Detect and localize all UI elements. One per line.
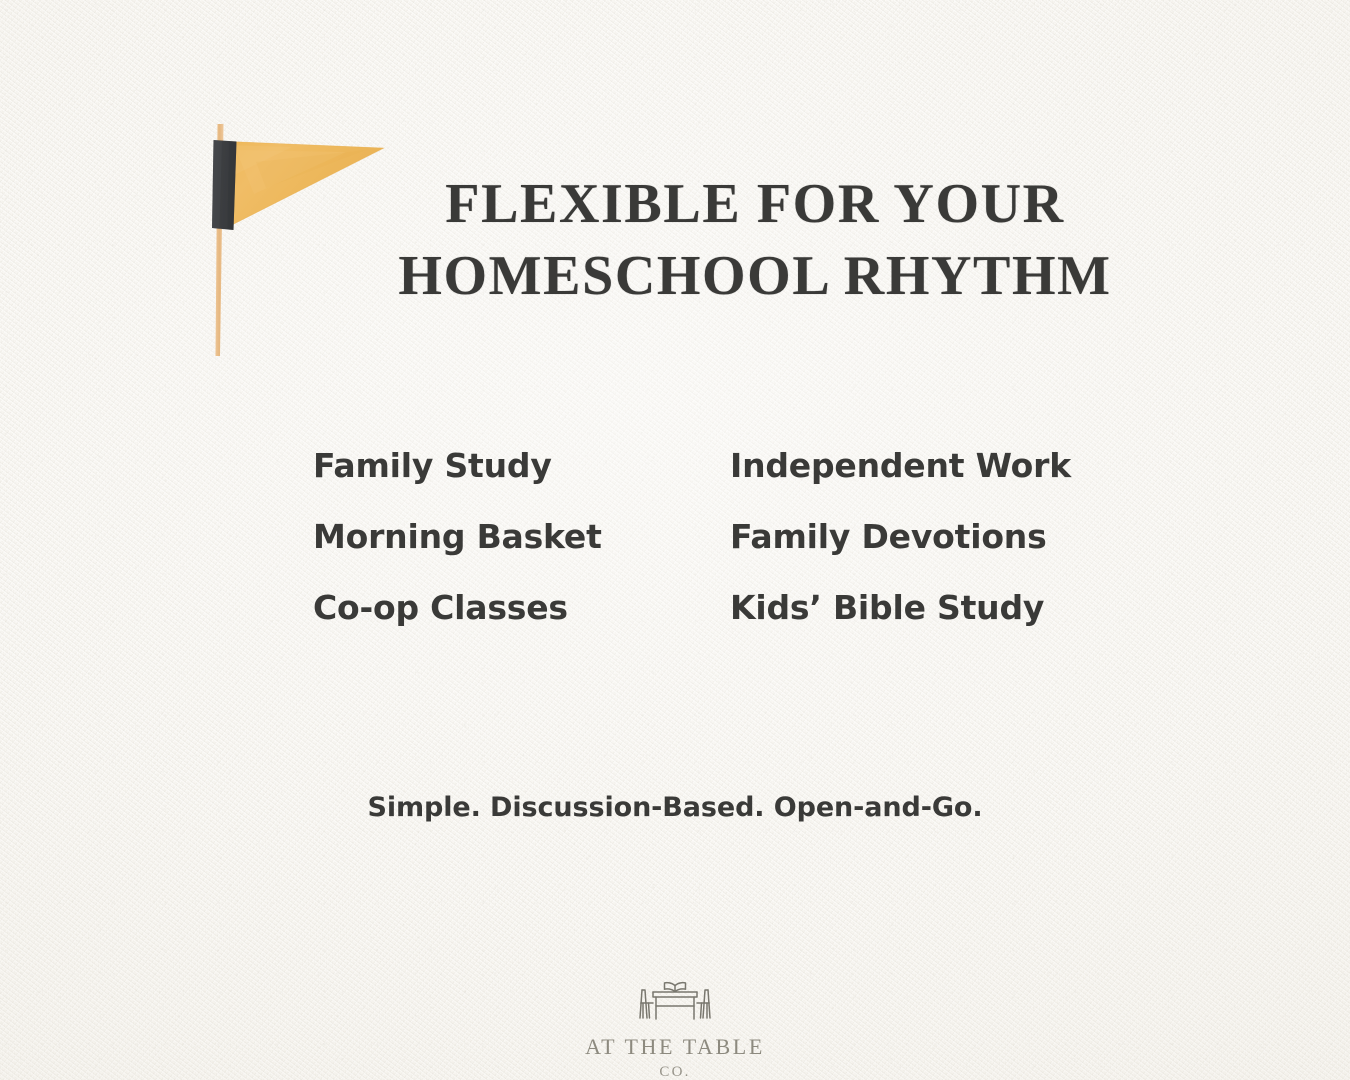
list-item: Morning Basket (313, 515, 730, 559)
list-item: Independent Work (730, 444, 1103, 488)
table-chairs-book-icon (632, 976, 718, 1026)
list-item: Family Study (313, 444, 730, 488)
brand-suffix: CO. (659, 1064, 690, 1080)
page-title-line-2: HOMESCHOOL RHYTHM (330, 240, 1180, 312)
list-item: Family Devotions (730, 515, 1103, 559)
list-item: Co-op Classes (313, 586, 730, 630)
list-item: Kids’ Bible Study (730, 586, 1103, 630)
brand-name: AT THE TABLE (585, 1034, 765, 1060)
page-title: FLEXIBLE FOR YOUR HOMESCHOOL RHYTHM (330, 168, 1180, 312)
feature-list: Family Study Independent Work Morning Ba… (313, 444, 1103, 657)
promo-slide: FLEXIBLE FOR YOUR HOMESCHOOL RHYTHM Fami… (0, 0, 1350, 1080)
brand-footer: AT THE TABLE CO. (0, 976, 1350, 1080)
page-title-line-1: FLEXIBLE FOR YOUR (330, 168, 1180, 240)
tagline: Simple. Discussion-Based. Open-and-Go. (0, 792, 1350, 823)
